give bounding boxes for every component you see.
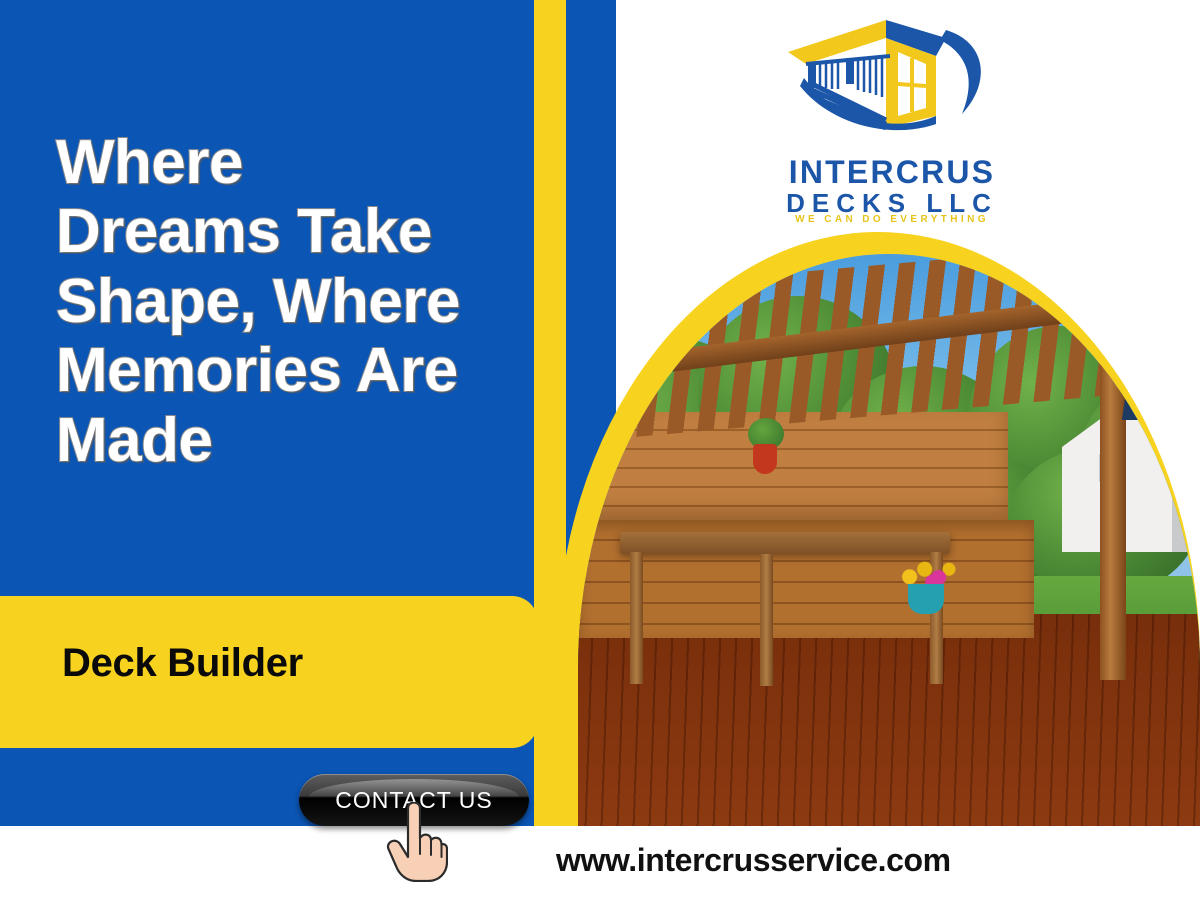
- table-leg: [630, 552, 643, 684]
- logo-company-name: INTERCRUS: [742, 154, 1042, 191]
- contact-us-button[interactable]: CONTACT US: [299, 774, 529, 826]
- website-url[interactable]: www.intercrusservice.com: [556, 842, 951, 879]
- pergola-post: [1100, 350, 1126, 680]
- patio-table-top: [620, 532, 950, 554]
- company-logo: INTERCRUS DECKS LLC WE CAN DO EVERYTHING: [742, 16, 1042, 216]
- deck-photograph: [578, 254, 1200, 826]
- page-title: Where Dreams Take Shape, Where Memories …: [56, 128, 576, 475]
- deck-house-logo-icon: [786, 16, 1002, 140]
- marketing-banner: Where Dreams Take Shape, Where Memories …: [0, 0, 1200, 900]
- teal-flowerpot: [908, 584, 944, 614]
- table-leg: [760, 554, 773, 686]
- service-subtitle: Deck Builder: [62, 641, 303, 686]
- hero-photo: [556, 232, 1200, 826]
- logo-tagline: WE CAN DO EVERYTHING: [742, 214, 1042, 225]
- red-vase: [753, 444, 777, 474]
